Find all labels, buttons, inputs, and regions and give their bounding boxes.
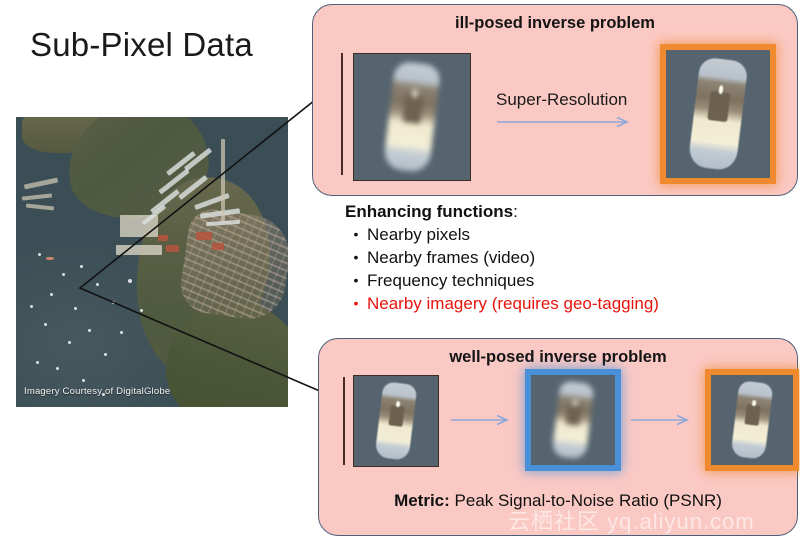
satellite-render [16, 117, 288, 407]
list-item-label: Nearby imagery (requires geo-tagging) [367, 292, 659, 315]
list-item-label: Frequency techniques [367, 269, 534, 292]
thumb-low-resolution[interactable] [353, 53, 471, 181]
boat [96, 283, 99, 286]
list-item: • Nearby frames (video) [345, 246, 765, 269]
list-item-label: Nearby frames (video) [367, 246, 535, 269]
enhancing-heading-suffix: : [513, 202, 518, 221]
list-item: • Frequency techniques [345, 269, 765, 292]
enhancing-functions-block: Enhancing functions: • Nearby pixels • N… [345, 202, 765, 315]
vessel-cabin [708, 91, 731, 122]
building [116, 245, 162, 255]
boat [62, 273, 65, 276]
metric-line: Metric: Peak Signal-to-Noise Ratio (PSNR… [319, 491, 797, 511]
bracket-line-top [341, 53, 343, 175]
roof [196, 232, 212, 240]
satellite-image[interactable]: Imagery Courtesy of DigitalGlobe [16, 117, 288, 407]
enhancing-functions-heading: Enhancing functions: [345, 202, 765, 222]
boat [140, 309, 143, 312]
boat [74, 307, 77, 310]
bullet-icon: • [345, 246, 367, 269]
bracket-line-bottom [343, 377, 345, 465]
boat [88, 329, 91, 332]
boat [44, 323, 47, 326]
vessel-cabin [745, 404, 761, 425]
panel-well-posed: well-posed inverse problem [318, 338, 798, 536]
bullet-icon: • [345, 292, 367, 315]
vessel-render [551, 380, 594, 460]
boat [128, 279, 132, 283]
boat [30, 305, 33, 308]
pier [221, 139, 225, 221]
bullet-icon: • [345, 269, 367, 292]
page-title: Sub-Pixel Data [30, 26, 253, 64]
thumb-super-resolved[interactable] [666, 50, 770, 178]
bullet-icon: • [345, 223, 367, 246]
vessel-render [383, 61, 442, 174]
degrade-arrow [451, 413, 517, 427]
panel-ill-title: ill-posed inverse problem [313, 14, 797, 33]
super-resolution-arrow [497, 115, 637, 129]
boat [120, 331, 123, 334]
thumb-degraded[interactable] [531, 375, 615, 465]
thumb-reference[interactable] [353, 375, 439, 467]
vessel-render [374, 381, 417, 461]
vessel-cabin [389, 405, 405, 426]
boat [80, 265, 83, 268]
boat [38, 253, 41, 256]
boat [50, 293, 53, 296]
metric-label: Metric: [394, 491, 450, 510]
roof [158, 235, 168, 241]
boat [46, 257, 54, 260]
roof [166, 245, 179, 252]
boat [68, 341, 71, 344]
reconstruct-arrow [631, 413, 697, 427]
enhancing-heading-bold: Enhancing functions [345, 202, 513, 221]
boat [112, 301, 115, 304]
roof [212, 243, 224, 250]
list-item-highlighted: • Nearby imagery (requires geo-tagging) [345, 292, 765, 315]
list-item-label: Nearby pixels [367, 223, 470, 246]
boat [82, 379, 85, 382]
vessel-render [730, 380, 773, 460]
boat [56, 367, 59, 370]
panel-well-title: well-posed inverse problem [319, 348, 797, 367]
panel-ill-posed: ill-posed inverse problem Super-Resoluti… [312, 4, 798, 196]
thumb-reconstructed[interactable] [711, 375, 793, 465]
super-resolution-label: Super-Resolution [496, 90, 627, 110]
vessel-render [687, 56, 748, 171]
satellite-caption: Imagery Courtesy of DigitalGlobe [24, 386, 170, 397]
boat [104, 353, 107, 356]
slide-canvas: Sub-Pixel Data [0, 0, 800, 536]
metric-value: Peak Signal-to-Noise Ratio (PSNR) [455, 491, 722, 510]
boat [36, 361, 39, 364]
vessel-cabin [402, 94, 424, 124]
vessel-cabin [566, 404, 582, 425]
list-item: • Nearby pixels [345, 223, 765, 246]
